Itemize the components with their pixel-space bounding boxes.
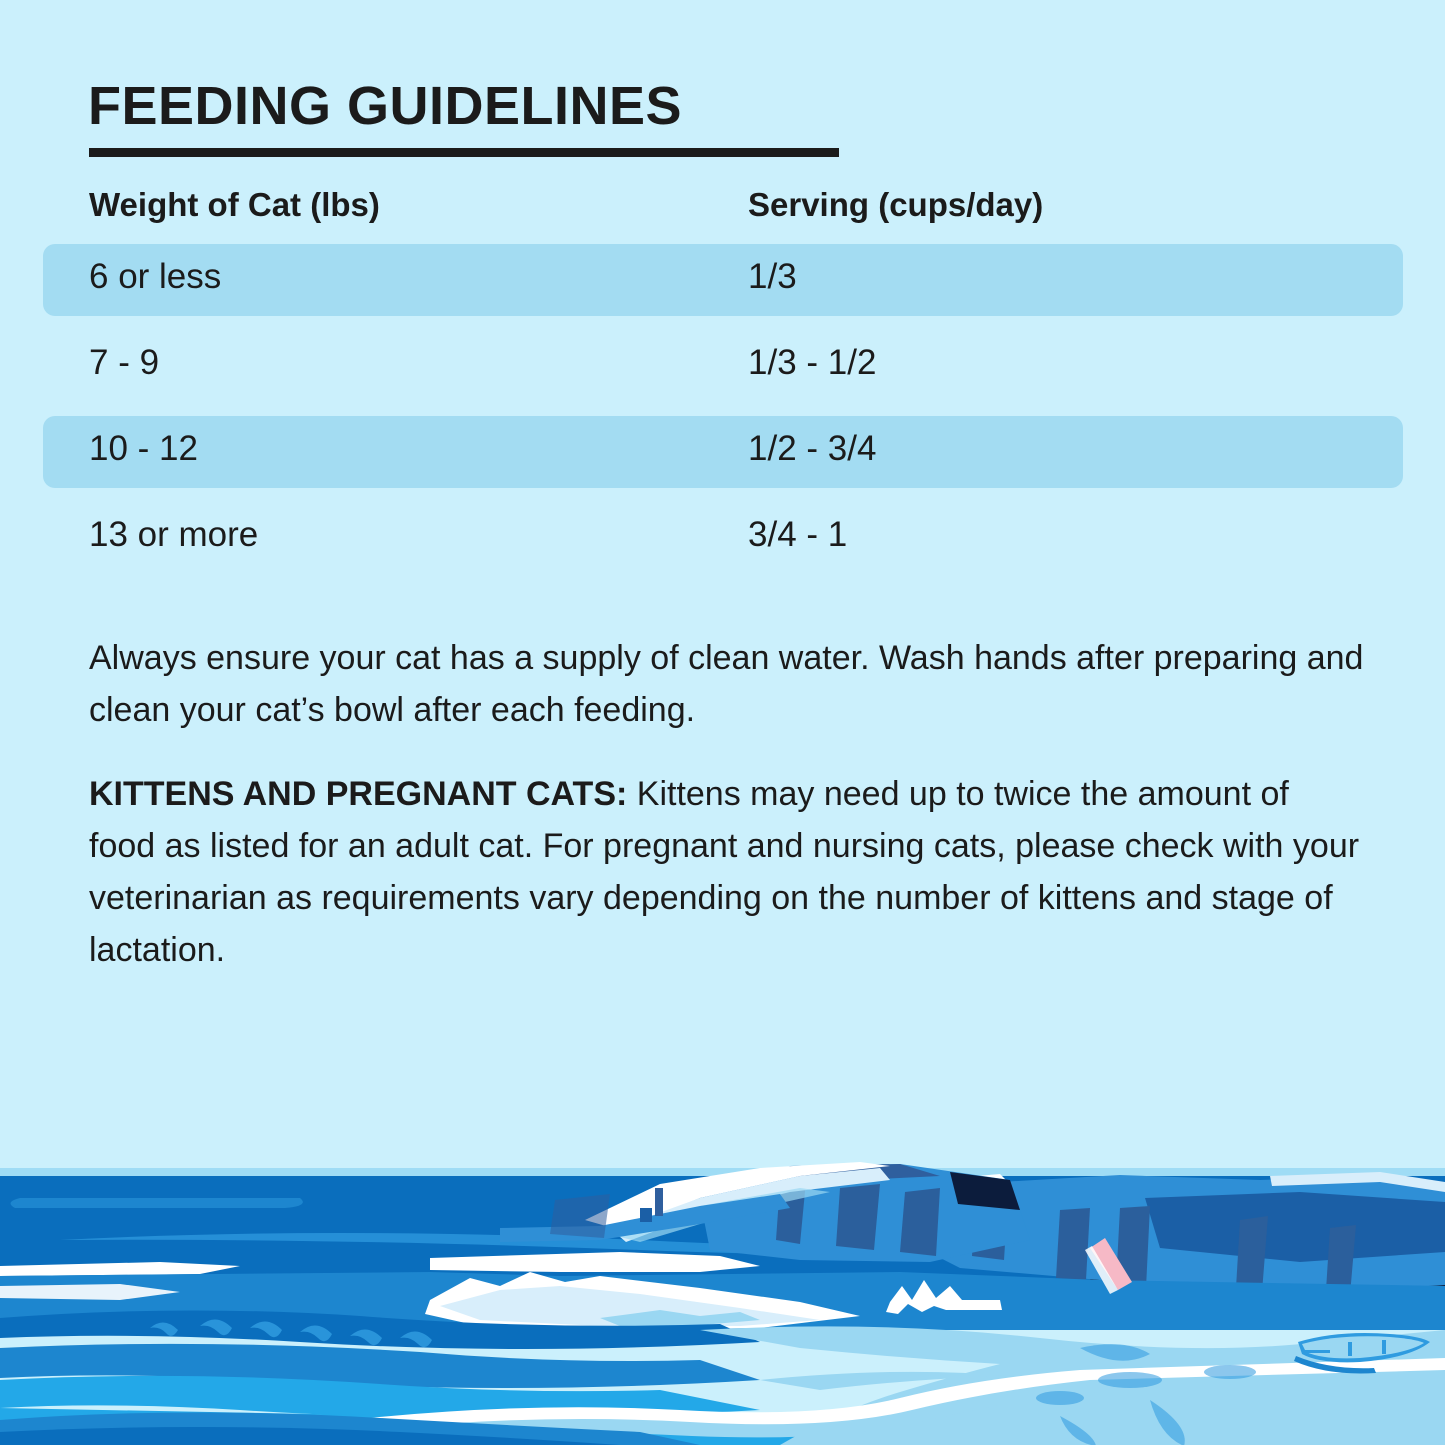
- row-highlight-band: [43, 416, 1403, 488]
- table-row: 13 or more 3/4 - 1: [0, 500, 1445, 586]
- cliff-crack: [900, 1188, 940, 1256]
- antenna-mast-icon: [655, 1188, 663, 1216]
- cell-serving: 1/3 - 1/2: [748, 342, 876, 384]
- row-highlight-band: [43, 244, 1403, 316]
- cell-serving: 1/3: [748, 256, 797, 298]
- cliff-crack: [836, 1184, 880, 1250]
- title-underline: [89, 148, 839, 157]
- column-header-serving: Serving (cups/day): [748, 186, 1043, 224]
- cell-weight: 6 or less: [89, 256, 221, 298]
- water-note-paragraph: Always ensure your cat has a supply of c…: [89, 632, 1364, 736]
- antenna-base-icon: [640, 1208, 652, 1222]
- cell-weight: 13 or more: [89, 514, 258, 556]
- table-header-row: Weight of Cat (lbs) Serving (cups/day): [0, 180, 1445, 242]
- coastal-glacier-illustration: [0, 1080, 1445, 1445]
- page-title: FEEDING GUIDELINES: [88, 78, 682, 135]
- kittens-note-label: KITTENS AND PREGNANT CATS:: [89, 775, 627, 813]
- cell-serving: 1/2 - 3/4: [748, 428, 876, 470]
- notes-section: Always ensure your cat has a supply of c…: [89, 632, 1364, 1008]
- kittens-note-paragraph: KITTENS AND PREGNANT CATS: Kittens may n…: [89, 768, 1364, 976]
- table-row: 6 or less 1/3: [0, 242, 1445, 328]
- cell-serving: 3/4 - 1: [748, 514, 847, 556]
- cell-weight: 10 - 12: [89, 428, 198, 470]
- ocean-streak: [11, 1198, 303, 1208]
- cliff-crack: [1056, 1208, 1090, 1280]
- cell-weight: 7 - 9: [89, 342, 159, 384]
- table-row: 7 - 9 1/3 - 1/2: [0, 328, 1445, 414]
- glacier-facet: [550, 1194, 610, 1238]
- table-row: 10 - 12 1/2 - 3/4: [0, 414, 1445, 500]
- feeding-table: Weight of Cat (lbs) Serving (cups/day) 6…: [0, 180, 1445, 586]
- column-header-weight: Weight of Cat (lbs): [89, 186, 380, 224]
- feeding-guidelines-panel: FEEDING GUIDELINES Weight of Cat (lbs) S…: [0, 0, 1445, 1445]
